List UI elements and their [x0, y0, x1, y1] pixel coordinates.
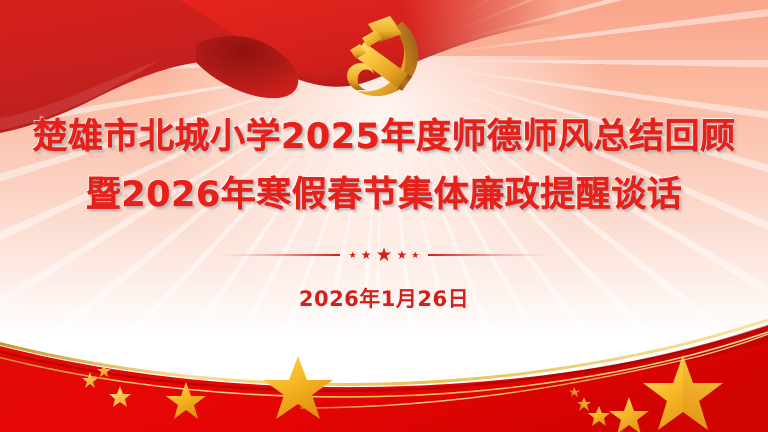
title-block: 楚雄市北城小学2025年度师德师风总结回顾 暨2026年寒假春节集体廉政提醒谈话	[0, 108, 768, 224]
star-icon-3: ★	[375, 246, 392, 265]
hammer-sickle-icon	[332, 12, 436, 110]
divider-line-right	[428, 254, 548, 256]
gold-stars-decoration	[568, 337, 768, 432]
party-emblem-icon	[332, 12, 436, 110]
presentation-title-slide: 楚雄市北城小学2025年度师德师风总结回顾 暨2026年寒假春节集体廉政提醒谈话…	[0, 0, 768, 432]
star-icon-4: ★	[397, 249, 408, 261]
page-title-line-2: 暨2026年寒假春节集体廉政提醒谈话	[0, 166, 768, 224]
date-text: 2026年1月26日	[0, 283, 768, 313]
star-divider: ★ ★ ★ ★ ★	[0, 244, 768, 266]
divider-stars: ★ ★ ★ ★ ★	[349, 246, 420, 265]
star-icon-5: ★	[411, 251, 419, 260]
star-icon-2: ★	[361, 249, 372, 261]
page-title-line-1: 楚雄市北城小学2025年度师德师风总结回顾	[0, 108, 768, 166]
divider-line-left	[220, 254, 340, 256]
star-icon-1: ★	[349, 251, 357, 260]
bottom-red-band-decoration	[0, 312, 768, 432]
